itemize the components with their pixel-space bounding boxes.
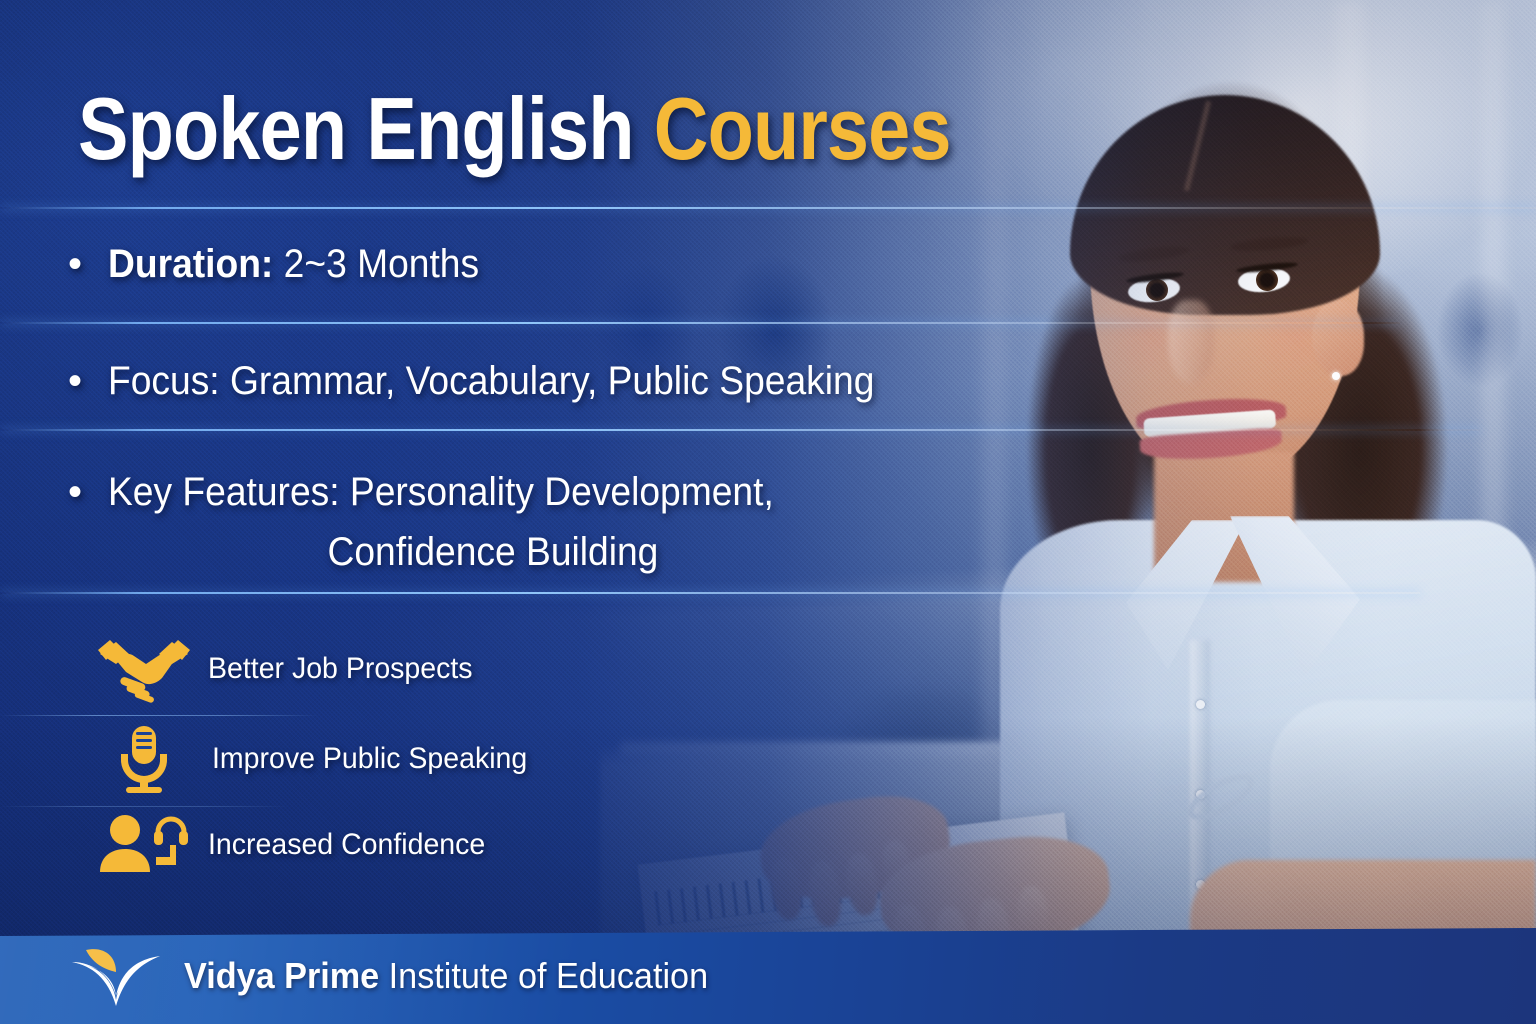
person-headset-icon: [96, 814, 192, 876]
benefit-row-job-prospects: Better Job Prospects: [96, 634, 544, 704]
list-item-text: Focus: Grammar, Vocabulary, Public Speak…: [108, 357, 874, 406]
bullet-dot-icon: •: [68, 240, 108, 289]
list-item-text: Duration: 2~3 Months: [108, 240, 479, 289]
brand-name-bold: Vidya Prime: [184, 955, 379, 996]
handshake-icon: [96, 634, 192, 704]
benefit-label: Increased Confidence: [208, 830, 485, 860]
benefits-list: Better Job Prospects Improve Public Sp: [96, 634, 544, 876]
bullet-list: • Duration: 2~3 Months • Focus: Grammar,…: [68, 240, 1048, 577]
benefit-label: Improve Public Speaking: [212, 744, 527, 774]
title-space: [634, 79, 654, 178]
benefit-label: Better Job Prospects: [208, 654, 473, 684]
page-title: Spoken English Courses: [78, 78, 951, 180]
list-item: • Duration: 2~3 Months: [68, 240, 1048, 289]
title-accent: Courses: [654, 79, 951, 178]
poster-canvas: Spoken English Courses • Duration: 2~3 M…: [0, 0, 1536, 1024]
book-swoosh-logo-icon: [70, 944, 162, 1008]
list-item: • Key Features: Personality Development,…: [68, 468, 1048, 578]
benefit-row-public-speaking: Improve Public Speaking: [96, 724, 544, 794]
list-item-value: 2~3 Months: [273, 242, 479, 286]
list-item: • Focus: Grammar, Vocabulary, Public Spe…: [68, 357, 1048, 406]
list-item-value: Key Features: Personality Development,: [108, 470, 774, 514]
benefit-row-confidence: Increased Confidence: [96, 814, 544, 876]
list-item-label: Duration:: [108, 242, 273, 286]
brand-name-light: Institute of Education: [379, 955, 708, 996]
footer-bar: Vidya Prime Institute of Education: [0, 928, 1536, 1024]
footer-content: Vidya Prime Institute of Education: [70, 928, 736, 1024]
bullet-dot-icon: •: [68, 357, 108, 406]
list-item-value-line2: Confidence Building: [108, 528, 774, 577]
microphone-icon: [110, 724, 178, 794]
list-item-text: Key Features: Personality Development,Co…: [108, 468, 774, 578]
title-primary: Spoken English: [78, 79, 634, 178]
brand-name: Vidya Prime Institute of Education: [184, 958, 708, 994]
bullet-dot-icon: •: [68, 468, 108, 517]
